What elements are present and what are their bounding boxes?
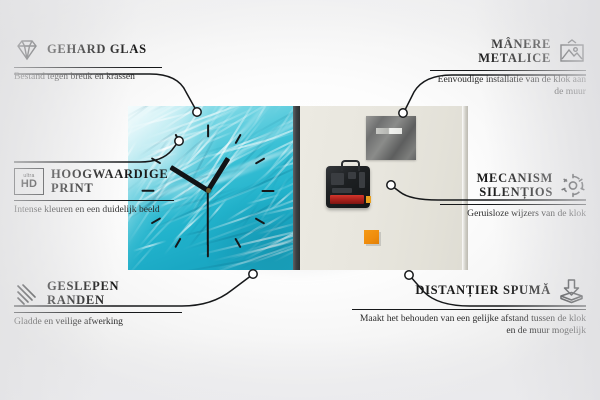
bevelled-edges-icon (14, 282, 40, 306)
callout-header: MECANISM SILENȚIOS (440, 172, 586, 199)
quartz-mechanism-box (326, 166, 370, 208)
gear-icon (560, 173, 586, 198)
callout-title: MECANISM SILENȚIOS (440, 172, 553, 199)
mechanism-detail (332, 188, 352, 193)
callout-title: GEHARD GLAS (47, 43, 147, 57)
mechanism-detail (359, 172, 365, 188)
callout-subtitle: Eenvoudige installatie van de klok aan d… (430, 74, 586, 97)
callout-header: ultra HD HOOGWAARDIGE PRINT (14, 168, 184, 195)
callout-rule (14, 312, 182, 313)
callout-header: GESLEPEN RANDEN (14, 280, 189, 307)
clock-side-edge (293, 106, 300, 270)
callout-manere-metalice: MÂNERE METALICE Eenvoudige installatie v… (430, 38, 586, 98)
battery (330, 195, 364, 204)
hanger-slot (376, 128, 402, 134)
callout-subtitle: Bestand tegen breuk en krassen (14, 71, 174, 83)
callout-header: DISTANȚIER SPUMĂ (352, 278, 586, 304)
battery-terminal (366, 196, 371, 203)
callout-title: HOOGWAARDIGE PRINT (51, 168, 169, 195)
foam-spacer-icon (558, 278, 586, 304)
second-hand (207, 190, 209, 246)
mechanism-detail (331, 173, 344, 185)
hands-hub (206, 188, 211, 193)
callout-subtitle: Geruisloze wijzers van de klok (440, 208, 586, 220)
callout-title: MÂNERE METALICE (430, 38, 551, 65)
callout-distantier-spuma: DISTANȚIER SPUMĂ Maakt het behouden van … (352, 278, 586, 337)
callout-subtitle: Maakt het behouden van een gelijke afsta… (352, 313, 586, 336)
mechanism-detail (348, 172, 356, 179)
callout-geslepen-randen: GESLEPEN RANDEN Gladde en veilige afwerk… (14, 280, 189, 328)
callout-header: MÂNERE METALICE (430, 38, 586, 65)
callout-rule (430, 70, 586, 71)
orange-foam-spacer (364, 230, 379, 244)
callout-title: GESLEPEN RANDEN (47, 280, 167, 307)
ultra-hd-large-label: HD (21, 179, 37, 190)
diamond-icon (14, 38, 40, 62)
metal-hanger-plate (366, 116, 416, 160)
callout-gehard-glas: GEHARD GLAS Bestand tegen breuk en krass… (14, 38, 174, 83)
callout-hoogwaardige-print: ultra HD HOOGWAARDIGE PRINT Intense kleu… (14, 168, 184, 216)
hanger-loop (341, 160, 360, 171)
callout-rule (352, 309, 586, 310)
callout-subtitle: Intense kleuren en een duidelijk beeld (14, 204, 184, 216)
callout-rule (14, 200, 174, 201)
callout-subtitle: Gladde en veilige afwerking (14, 316, 189, 328)
callout-rule (440, 204, 586, 205)
callout-title: DISTANȚIER SPUMĂ (352, 284, 551, 298)
callout-rule (14, 67, 162, 68)
infographic-canvas: GEHARD GLAS Bestand tegen breuk en krass… (0, 0, 600, 400)
picture-frame-icon (558, 39, 586, 64)
hour-hand (206, 156, 230, 191)
callout-header: GEHARD GLAS (14, 38, 174, 62)
callout-mecanism-silentios: MECANISM SILENȚIOS Geruisloze wijzers va… (440, 172, 586, 220)
ultra-hd-icon: ultra HD (14, 168, 44, 195)
